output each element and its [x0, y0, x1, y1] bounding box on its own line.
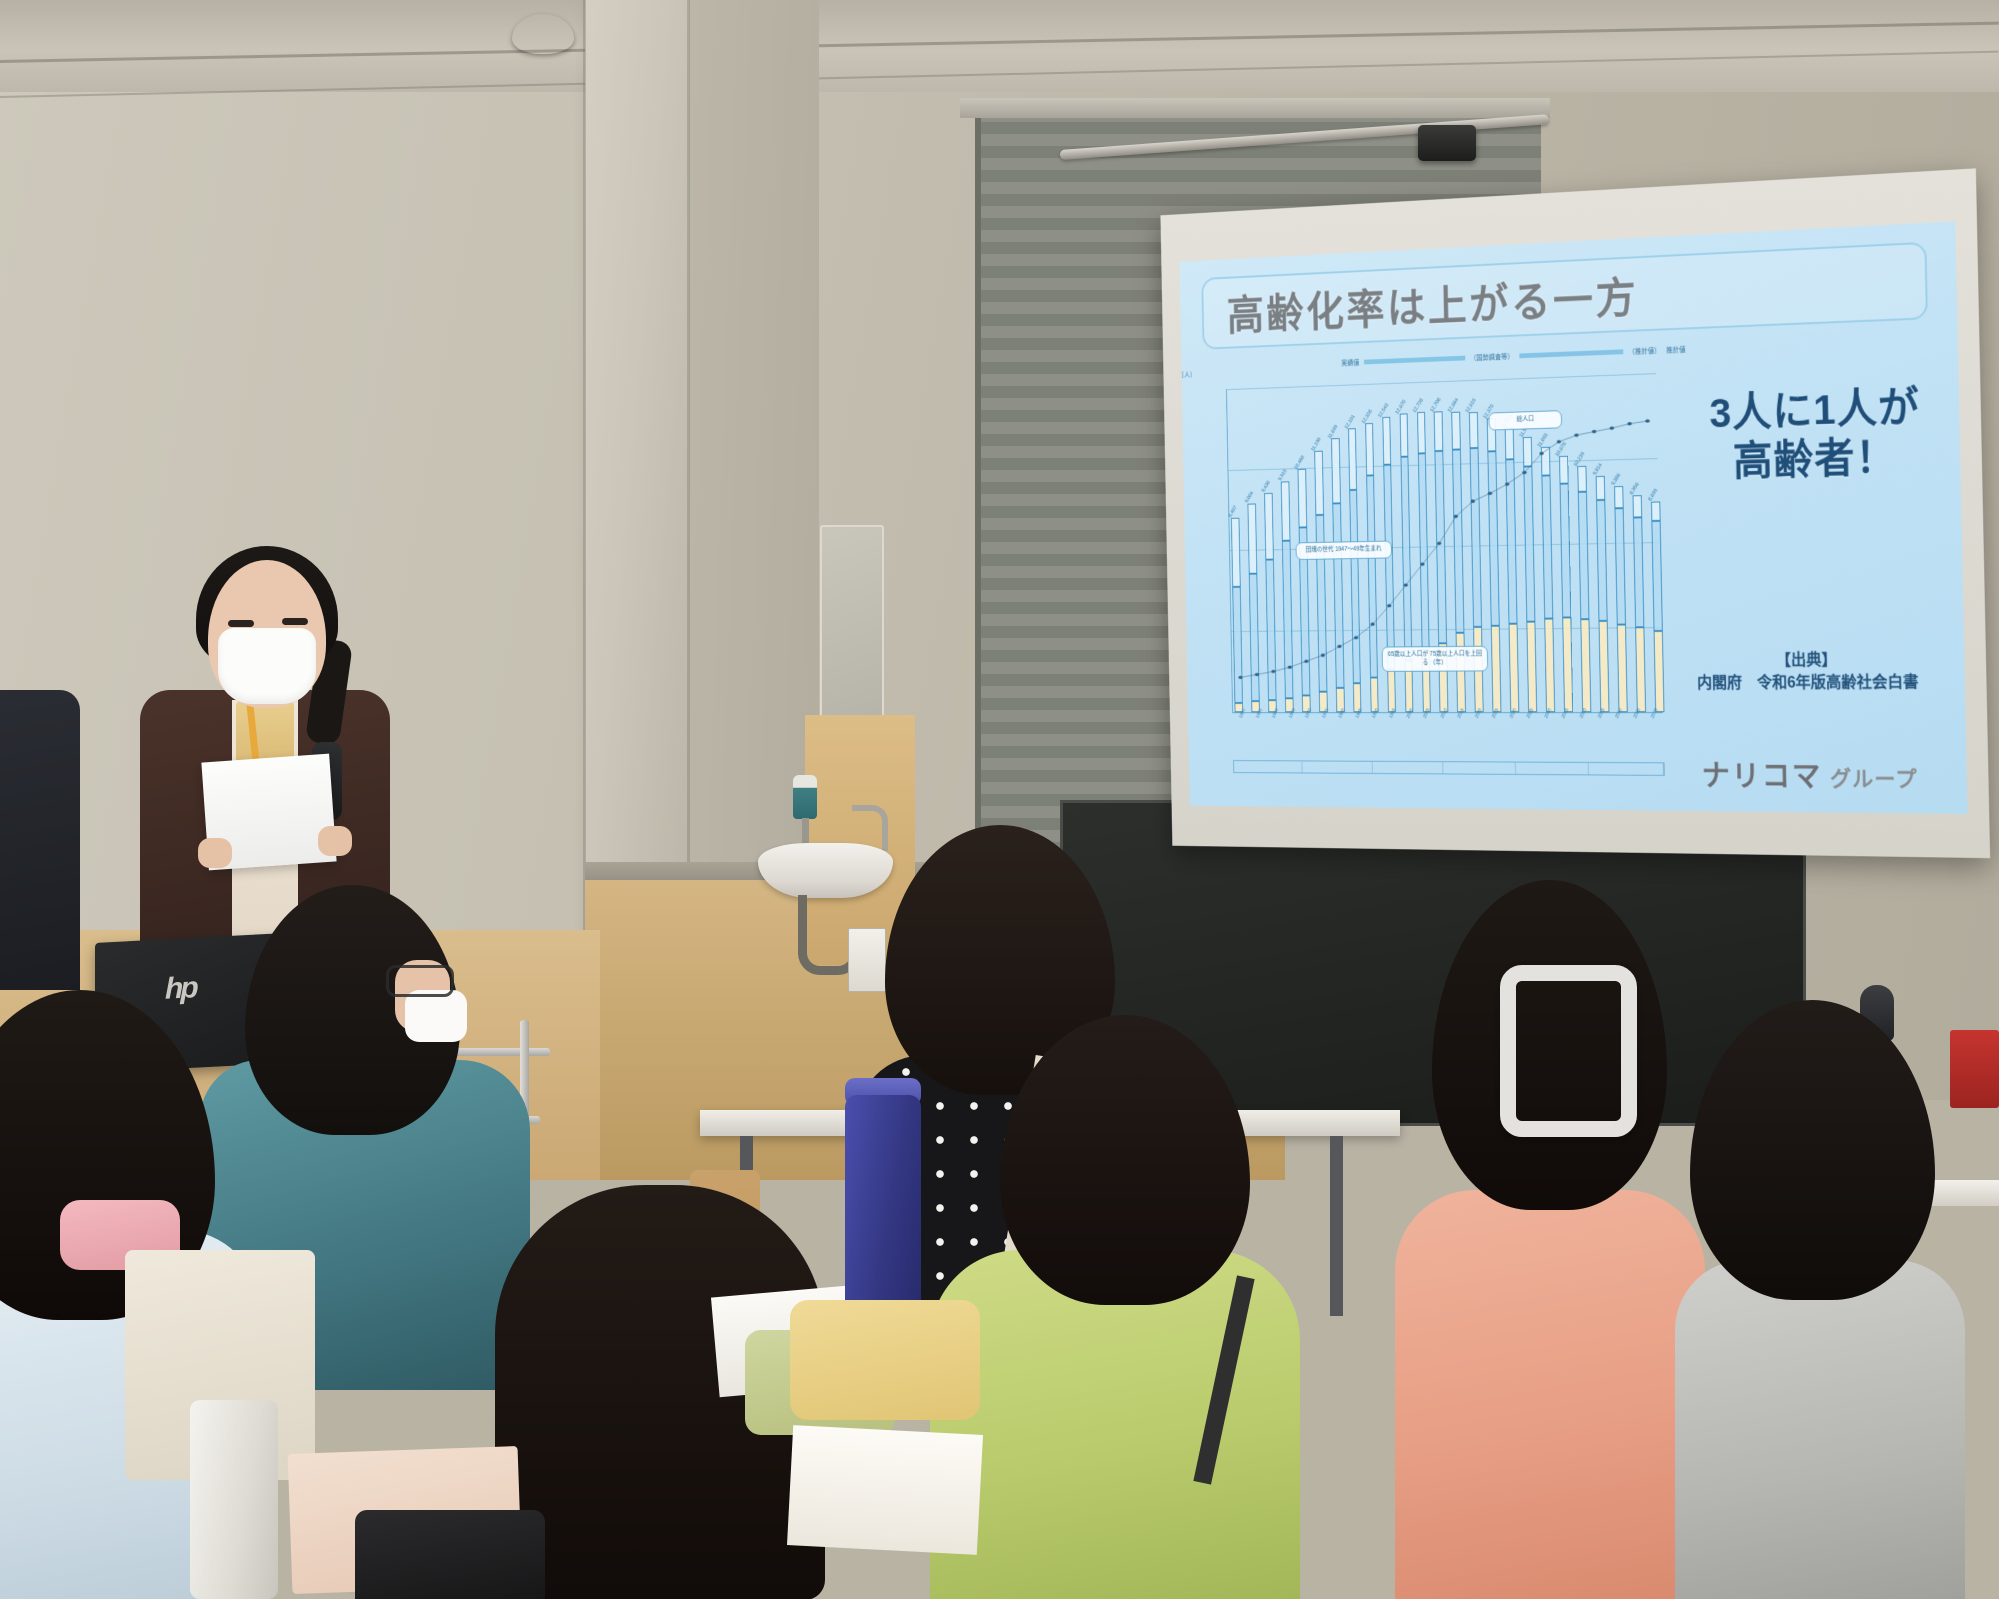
rate-point	[1337, 644, 1341, 647]
wall-control-box	[848, 928, 886, 992]
chart-x-band-cell	[1444, 762, 1516, 774]
attendee-peach-top-body	[1395, 1190, 1705, 1599]
logo-main-text: ナリコマ	[1701, 751, 1822, 795]
rate-point	[1645, 419, 1650, 423]
projection-screen: 高齢化率は上がる一方 実績値 （国勢調査等） （推計値） 推計値 （万人）	[1160, 168, 1990, 858]
presenter-hand-right	[318, 826, 352, 856]
rate-point	[1592, 430, 1597, 434]
chart-x-band-cell	[1589, 763, 1664, 775]
rate-point	[1437, 541, 1441, 544]
company-logo: ナリコマ グループ	[1675, 751, 1946, 796]
legend-arrow-right	[1519, 350, 1623, 359]
rate-point	[1387, 604, 1391, 607]
shutter-frame	[960, 98, 1550, 118]
chart-x-ticks: 1950195519601965197019751980198519901995…	[1232, 712, 1662, 733]
rate-point	[1574, 433, 1578, 437]
hair-clip-icon	[1500, 965, 1637, 1137]
legend-arrow-left	[1364, 356, 1465, 365]
chart-x-axis-band	[1233, 760, 1664, 776]
slide-source: 【出典】 内閣府 令和6年版高齢社会白書	[1673, 648, 1944, 695]
black-bag	[355, 1510, 545, 1599]
y-axis-label: （万人）	[1179, 370, 1195, 380]
sink-basin	[758, 843, 893, 898]
source-text: 内閣府 令和6年版高齢社会白書	[1673, 671, 1944, 695]
legend-item-0: 実績値	[1341, 358, 1359, 368]
chart-x-band-cell	[1303, 762, 1373, 774]
slide-surface: 高齢化率は上がる一方 実績値 （国勢調査等） （推計値） 推計値 （万人）	[1179, 221, 1967, 814]
projector-icon	[1418, 125, 1476, 161]
chart-callout-1: 65歳以上人口が 75歳以上人口を上回る （年）	[1382, 646, 1489, 673]
chart-x-band-cell	[1516, 763, 1590, 775]
slide-title-box: 高齢化率は上がる一方	[1201, 242, 1927, 350]
rate-point	[1627, 422, 1632, 426]
source-label: 【出典】	[1673, 648, 1944, 672]
rate-point	[1238, 676, 1242, 679]
rate-point	[1420, 562, 1424, 565]
slide-headline: 3人に1人が 高齢者！	[1691, 382, 1939, 487]
legend-item-1: （国勢調査等）	[1470, 352, 1514, 363]
chart-plot-area: 8,4079,0049,4309,91510,46011,19011,69912…	[1226, 373, 1662, 714]
presenter-eye-right	[282, 618, 308, 625]
wall-mirror	[820, 525, 884, 729]
table-leg-right	[1330, 1136, 1343, 1316]
seminar-room-photo: 高齢化率は上がる一方 実績値 （国勢調査等） （推計値） 推計値 （万人）	[0, 0, 1999, 1599]
rate-point	[1404, 583, 1408, 586]
rate-point	[1288, 665, 1292, 668]
yellow-pouch	[790, 1300, 980, 1420]
population-chart: 実績値 （国勢調査等） （推計値） 推計値 （万人） 8,4079,0049,4…	[1197, 341, 1705, 767]
slide-title: 高齢化率は上がる一方	[1203, 263, 1639, 343]
chart-callout-0: 団塊の世代 1947〜49年生まれ	[1296, 541, 1392, 560]
chart-x-band-cell	[1234, 761, 1303, 773]
attendee-gray-top-body	[1675, 1260, 1965, 1599]
slide-headline-line1: 3人に1人が	[1691, 382, 1938, 439]
rate-point	[1304, 659, 1308, 662]
logo-sub-text: グループ	[1830, 761, 1918, 793]
blue-water-bottle	[845, 1095, 921, 1325]
ceiling	[0, 0, 1999, 92]
red-equipment-case	[1950, 1030, 1999, 1108]
rate-point	[1271, 670, 1275, 673]
white-tumbler	[190, 1400, 278, 1599]
chart-x-band-cell	[1373, 762, 1444, 774]
glasses-icon	[386, 965, 454, 997]
legend-item-2: （推計値）	[1628, 346, 1660, 357]
legend-item-3: 推計値	[1666, 345, 1686, 355]
rate-point	[1610, 426, 1615, 430]
slide-headline-line2: 高齢者！	[1692, 431, 1939, 486]
chart-legend: 実績値 （国勢調査等） （推計値） 推計値	[1341, 342, 1686, 371]
face-mask-icon	[218, 628, 316, 704]
rate-point	[1321, 653, 1325, 656]
presenter-hand-left	[198, 838, 232, 868]
presenter-eye-left	[228, 620, 254, 627]
hp-logo-icon: hp	[165, 971, 196, 1007]
soap-dispenser-icon	[793, 775, 817, 819]
rate-point	[1488, 491, 1492, 494]
rate-point	[1255, 673, 1259, 676]
handout-papers-secondary	[787, 1425, 983, 1555]
chart-callout-2: 総人口	[1488, 410, 1562, 430]
attendee-teal-knit-mask	[405, 990, 467, 1042]
attendee-partial-left	[0, 690, 80, 990]
